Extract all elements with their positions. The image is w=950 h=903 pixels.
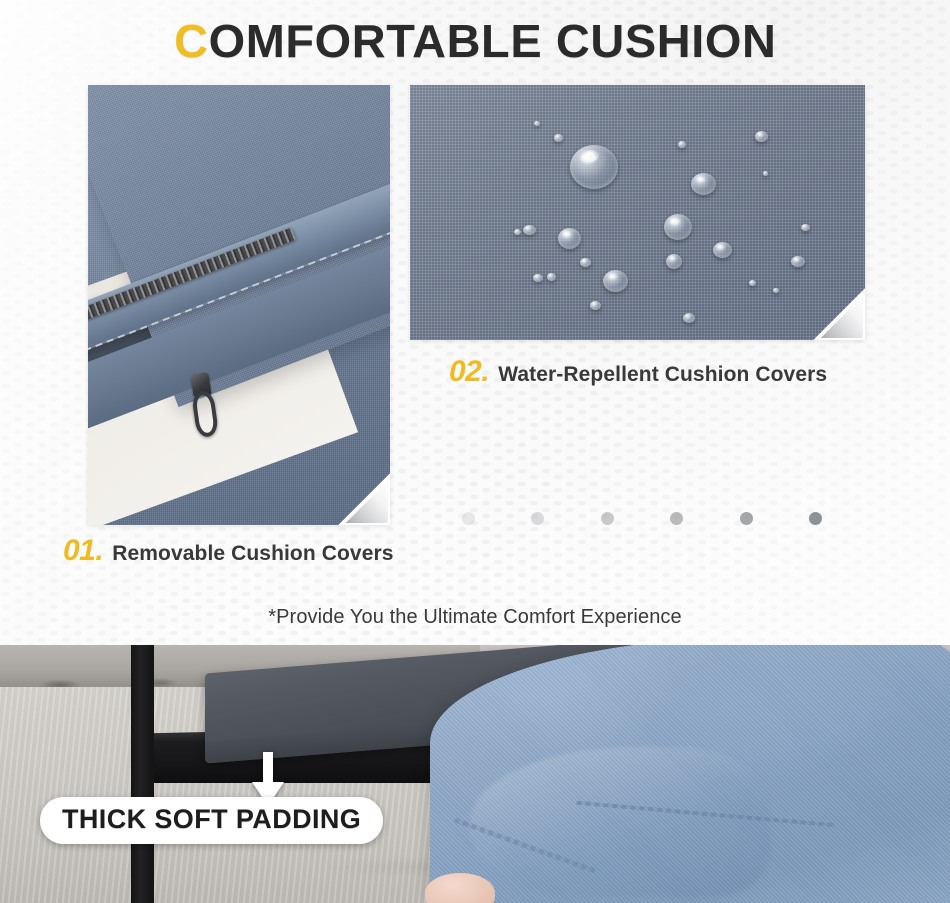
water-droplet (791, 256, 805, 267)
progress-dot (809, 512, 822, 525)
feature-number-02: 02. (449, 355, 489, 389)
photo-zipper-inner (88, 85, 390, 525)
photo-removable-cushion-cover (88, 85, 390, 525)
water-droplet (773, 288, 779, 293)
denim-fold (470, 747, 770, 897)
water-droplet (558, 228, 581, 249)
feature-label-02: Water-Repellent Cushion Covers (498, 363, 827, 387)
badge-label: THICK SOFT PADDING (62, 804, 361, 834)
feature-number-01: 01. (63, 534, 103, 568)
water-droplet (691, 173, 716, 195)
title-text: COMFORTABLE CUSHION (174, 14, 776, 68)
water-droplet (749, 280, 756, 286)
progress-dot (670, 512, 683, 525)
photo-droplets-inner (410, 85, 865, 340)
water-droplet (603, 270, 628, 292)
status-badge: THICK SOFT PADDING (40, 797, 383, 844)
water-droplet (664, 214, 692, 240)
water-droplet (713, 242, 732, 258)
title-rest: OMFORTABLE CUSHION (208, 15, 776, 67)
progress-dot (601, 512, 614, 525)
progress-dots (462, 508, 822, 528)
water-droplet (580, 258, 591, 267)
water-droplet (547, 273, 556, 281)
water-droplet (683, 313, 695, 323)
water-droplet (755, 131, 768, 142)
person-jeans (430, 645, 950, 903)
water-droplet (554, 134, 563, 142)
page-title: COMFORTABLE CUSHION (0, 14, 950, 68)
progress-dot (531, 512, 544, 525)
zipper-pull-loop (191, 390, 219, 439)
bench-leg (131, 645, 154, 903)
photo-water-repellent-fabric (410, 85, 865, 340)
water-droplet (801, 224, 810, 231)
water-droplet (678, 141, 686, 148)
progress-dot (740, 512, 753, 525)
water-droplet (534, 121, 540, 126)
progress-dot (462, 512, 475, 525)
title-lead-letter: C (174, 15, 209, 67)
photo-thick-soft-padding (0, 645, 950, 903)
water-droplet (590, 301, 601, 310)
water-droplet (523, 225, 536, 235)
droplet-fabric-weave (410, 85, 865, 340)
footnote-text: *Provide You the Ultimate Comfort Experi… (0, 606, 950, 629)
water-droplet (570, 145, 618, 189)
water-droplet (533, 274, 543, 282)
product-feature-banner: COMFORTABLE CUSHION (0, 0, 950, 903)
feature-caption-02: 02. Water-Repellent Cushion Covers (449, 355, 827, 389)
water-droplet (666, 254, 682, 269)
feature-caption-01: 01. Removable Cushion Covers (63, 534, 394, 568)
water-droplet (763, 171, 768, 176)
feature-label-01: Removable Cushion Covers (112, 542, 393, 566)
water-droplet (514, 229, 521, 235)
